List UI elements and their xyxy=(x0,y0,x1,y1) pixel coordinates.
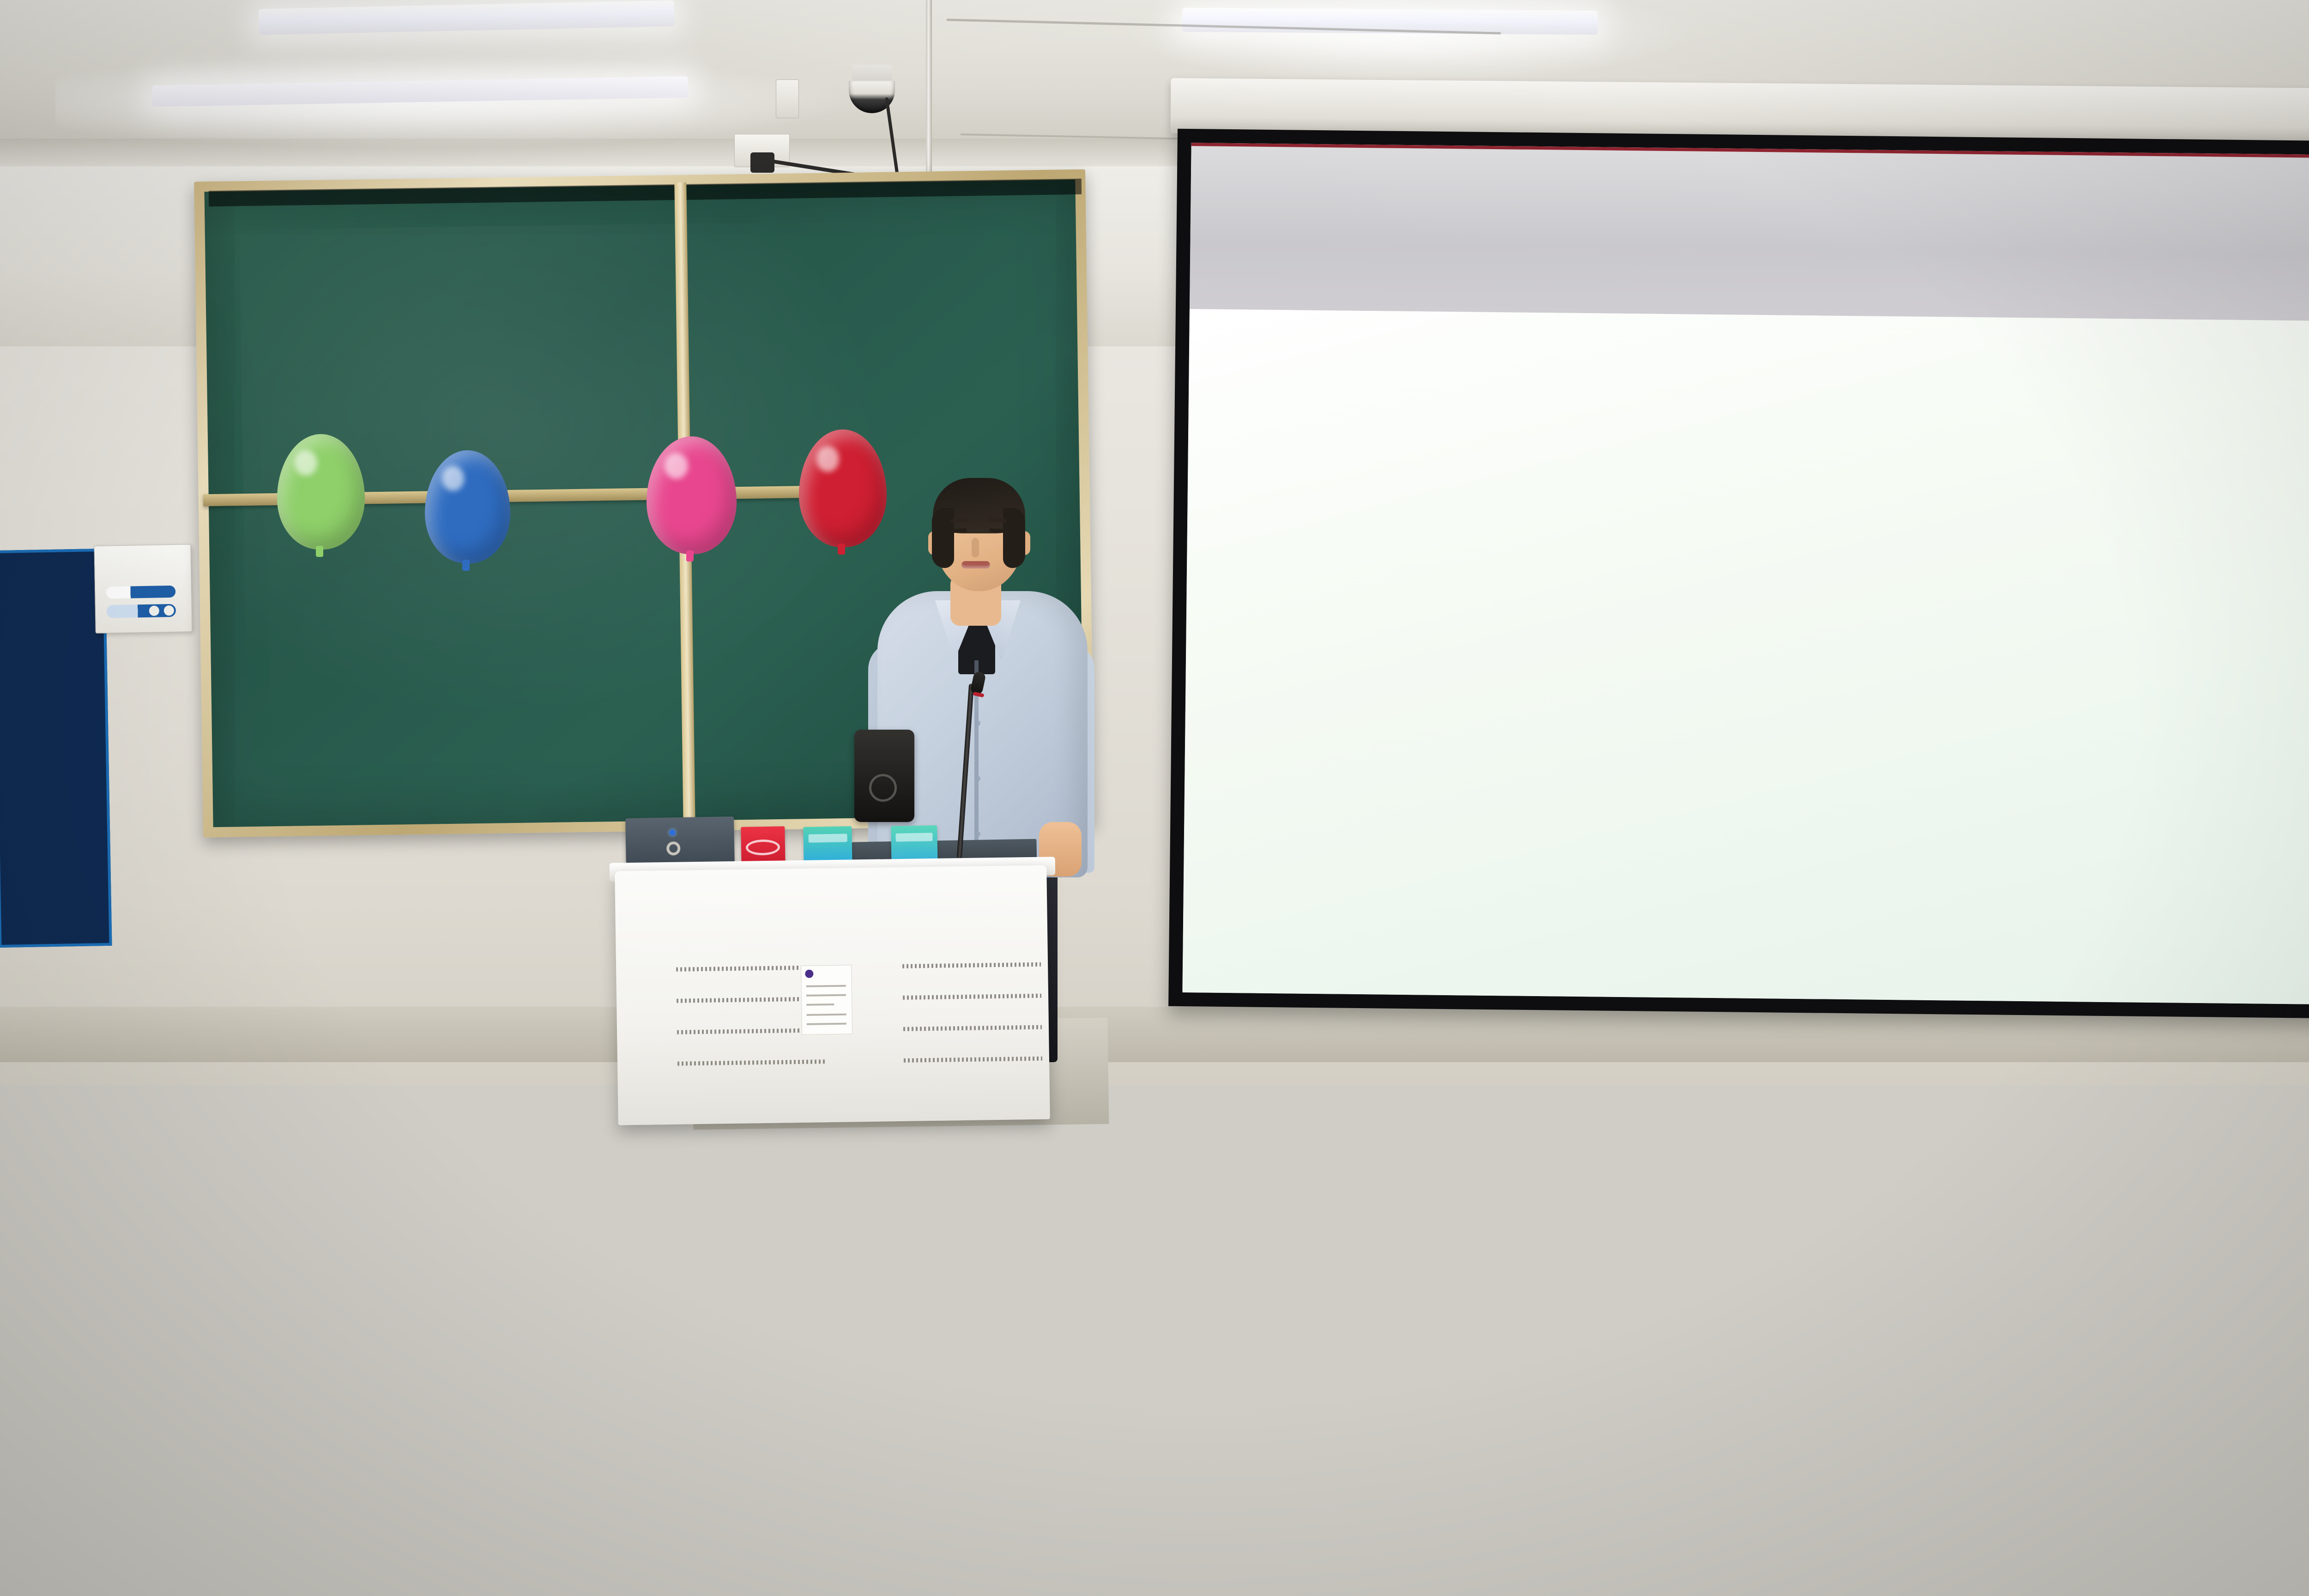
wall-base-band xyxy=(0,1007,2309,1062)
control-panel-row-1[interactable] xyxy=(106,586,175,599)
podium xyxy=(615,865,1050,1125)
hanging-microphone-pole xyxy=(926,0,932,194)
laptop-indicator-light xyxy=(670,829,676,835)
av-control-panel[interactable] xyxy=(94,544,192,634)
presenter-nose xyxy=(972,538,979,557)
podium-plate-logo-icon xyxy=(805,970,813,978)
presenter-hair-side-left xyxy=(932,508,954,568)
camera-bag xyxy=(854,730,914,822)
screen-gray-band xyxy=(1190,143,2309,321)
presenter-hair-side-right xyxy=(1003,508,1025,568)
podium-vent xyxy=(677,1059,825,1065)
laptop[interactable] xyxy=(625,816,735,868)
screen-red-line xyxy=(1191,143,2309,158)
wall-power-socket xyxy=(776,79,799,118)
projection-screen-surface xyxy=(1182,143,2309,1004)
projection-screen xyxy=(1168,129,2309,1018)
shirt-button xyxy=(975,776,980,781)
shirt-button xyxy=(975,720,980,726)
laptop-logo-ring xyxy=(666,841,681,856)
classroom-photo xyxy=(0,0,2309,1596)
podium-vent xyxy=(902,962,1041,968)
shirt-button xyxy=(975,831,980,837)
pocket-organizer-title xyxy=(0,553,103,555)
podium-vent xyxy=(903,1025,1042,1031)
podium-vent xyxy=(904,1057,1042,1063)
presenter-mouth xyxy=(961,561,990,568)
podium-info-plate xyxy=(801,965,852,1035)
podium-vent xyxy=(903,994,1041,1000)
slide-background xyxy=(1182,309,2309,1004)
